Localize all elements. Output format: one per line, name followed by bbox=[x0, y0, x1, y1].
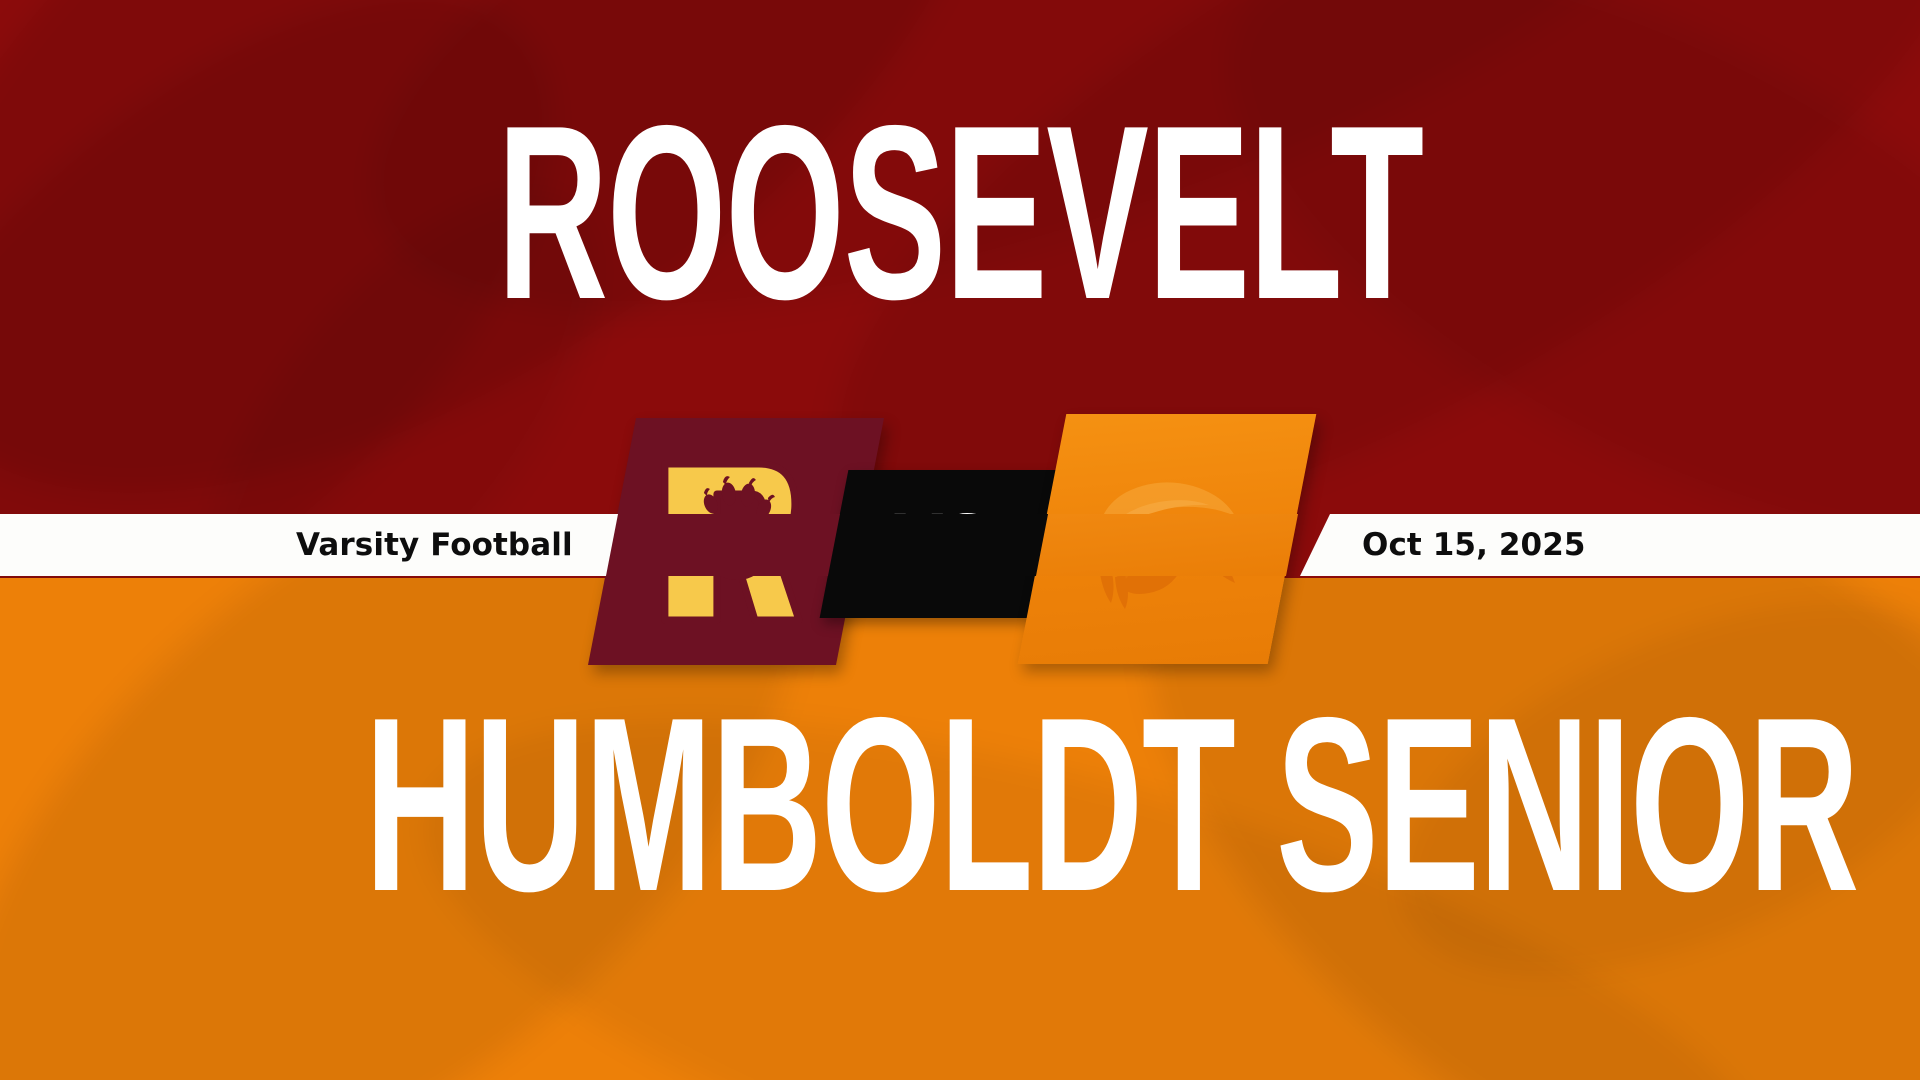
sport-label: Varsity Football bbox=[296, 514, 573, 576]
matchup-graphic: ROOSEVELT HUMBOLDT SENIOR bbox=[0, 0, 1920, 1080]
away-team-name: HUMBOLDT SENIOR bbox=[365, 700, 1555, 908]
info-banner-text-layer: Varsity Football Oct 15, 2025 bbox=[0, 514, 1920, 576]
home-team-name: ROOSEVELT bbox=[365, 108, 1555, 316]
game-date: Oct 15, 2025 bbox=[1362, 514, 1586, 576]
